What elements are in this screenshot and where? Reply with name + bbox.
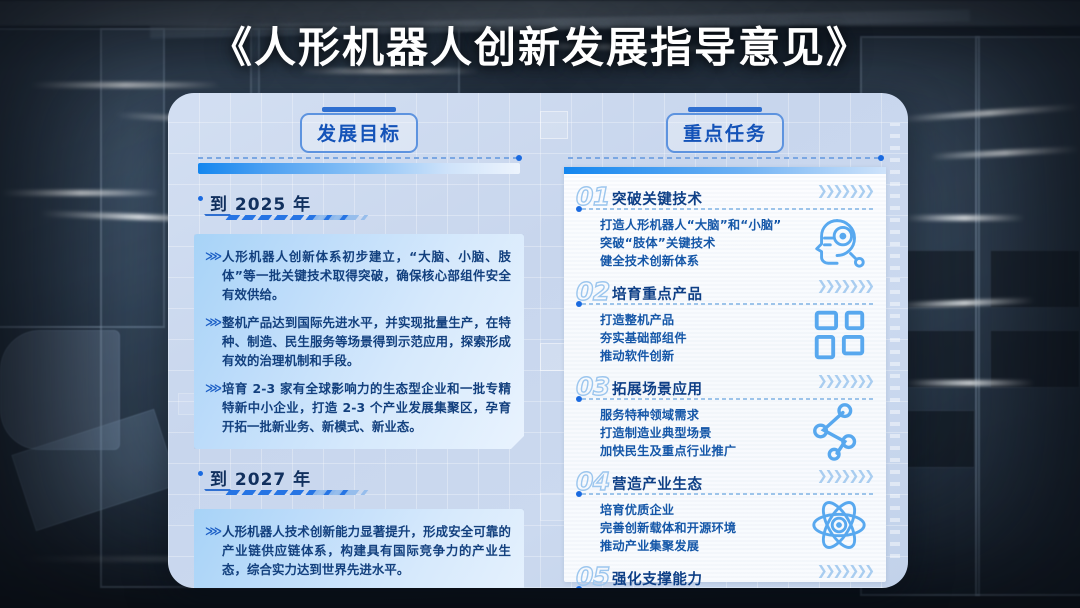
chevron-bullet-icon: ⋙ [205,379,222,398]
task-title: 强化支撑能力 [612,568,703,588]
task-header: 05 强化支撑能力 ❯❯❯❯❯❯❯ [576,564,874,588]
task-item[interactable]: 01 突破关键技术 ❯❯❯❯❯❯❯ 打造人形机器人“大脑”和“小脑” 突破“肢体… [576,175,874,270]
year-label: 到 2025 年 [210,190,524,215]
task-title: 突破关键技术 [612,188,703,209]
task-body: 服务特种领域需求 打造制造业典型场景 加快民生及重点行业推广 [576,401,874,460]
robot-head-icon [808,209,870,271]
task-item[interactable]: 05 强化支撑能力 ❯❯❯❯❯❯❯ 健全产业标准体系 提升检验检测和中试验证能力… [576,555,874,588]
task-number: 05 [576,562,610,588]
development-goals-title: 发展目标 [300,113,418,153]
development-goals-header: 发展目标 [194,105,524,151]
goal-bullet: ⋙ 培育 2-3 家有全球影响力的生态型企业和一批专精特新中小企业，打造 2-3… [205,379,511,436]
task-item[interactable]: 02 培育重点产品 ❯❯❯❯❯❯❯ 打造整机产品 夯实基础部组件 推动软件创新 [576,270,874,365]
dashed-rule [198,157,520,160]
chevron-arrows-icon: ❯❯❯❯❯❯❯ [817,564,872,579]
goals-text-panel-2027: ⋙ 人形机器人技术创新能力显著提升，形成安全可靠的产业链供应链体系，构建具有国际… [194,509,524,588]
task-title: 拓展场景应用 [612,378,703,399]
task-header: 01 突破关键技术 ❯❯❯❯❯❯❯ [576,184,874,211]
tasks-sheet: 01 突破关键技术 ❯❯❯❯❯❯❯ 打造人形机器人“大脑”和“小脑” 突破“肢体… [564,167,886,582]
task-body: 培育优质企业 完善创新载体和开源环境 推动产业集聚发展 [576,496,874,555]
task-item[interactable]: 03 拓展场景应用 ❯❯❯❯❯❯❯ 服务特种领域需求 打造制造业典型场景 加快民… [576,365,874,460]
goals-text-panel-2025: ⋙ 人形机器人创新体系初步建立，“大脑、小脑、肢体”等一批关键技术取得突破，确保… [194,234,524,449]
header-accent-bar [688,107,762,112]
goal-text: 人形机器人技术创新能力显著提升，形成安全可靠的产业链供应链体系，构建具有国际竞争… [222,522,511,579]
year-marker-2025: 到 2025 年 [194,190,524,226]
key-tasks-title: 重点任务 [666,113,784,153]
network-nodes-icon [808,399,870,461]
goal-text: 整机产品达到国际先进水平，并实现批量生产，在特种、制造、民生服务等场景得到示范应… [222,313,511,370]
sheet-top-gradient-bar [564,167,886,174]
atom-icon [808,494,870,556]
goal-text: 培育 2-3 家有全球影响力的生态型企业和一批专精特新中小企业，打造 2-3 个… [222,379,511,436]
chevron-arrows-icon: ❯❯❯❯❯❯❯ [817,374,872,389]
infographic-card: 发展目标 到 2025 年 ⋙ 人形机器人创新体系初步建立，“大脑、小脑、肢体”… [168,93,908,588]
chevron-arrows-icon: ❯❯❯❯❯❯❯ [817,469,872,484]
task-title: 培育重点产品 [612,283,703,304]
header-accent-bar [322,107,396,112]
gradient-bar [198,163,520,174]
chevron-bullet-icon: ⋙ [205,313,222,332]
task-header: 03 拓展场景应用 ❯❯❯❯❯❯❯ [576,374,874,401]
goal-text: 人形机器人创新体系初步建立，“大脑、小脑、肢体”等一批关键技术取得突破，确保核心… [222,247,511,304]
task-body: 打造整机产品 夯实基础部组件 推动软件创新 [576,306,874,365]
task-body: 打造人形机器人“大脑”和“小脑” 突破“肢体”关键技术 健全技术创新体系 [576,211,874,270]
key-tasks-header: 重点任务 [564,105,886,151]
goal-bullet: ⋙ 人形机器人技术创新能力显著提升，形成安全可靠的产业链供应链体系，构建具有国际… [205,522,511,579]
dashed-rule [568,157,882,160]
task-header: 04 营造产业生态 ❯❯❯❯❯❯❯ [576,469,874,496]
page-title: 《人形机器人创新发展指导意见》 [0,14,1080,75]
year-tick-decor [312,490,369,496]
chevron-bullet-icon: ⋙ [205,247,222,266]
task-title: 营造产业生态 [612,473,703,494]
task-header: 02 培育重点产品 ❯❯❯❯❯❯❯ [576,279,874,306]
year-label: 到 2027 年 [210,465,524,490]
chevron-bullet-icon: ⋙ [205,522,222,541]
goal-bullet: ⋙ 人形机器人创新体系初步建立，“大脑、小脑、肢体”等一批关键技术取得突破，确保… [205,247,511,304]
chevron-arrows-icon: ❯❯❯❯❯❯❯ [817,184,872,199]
development-goals-panel: 发展目标 到 2025 年 ⋙ 人形机器人创新体系初步建立，“大脑、小脑、肢体”… [194,105,524,575]
task-item[interactable]: 04 营造产业生态 ❯❯❯❯❯❯❯ 培育优质企业 完善创新载体和开源环境 推动产… [576,460,874,555]
year-marker-2027: 到 2027 年 [194,465,524,501]
grid-squares-icon [808,304,870,366]
chevron-arrows-icon: ❯❯❯❯❯❯❯ [817,279,872,294]
key-tasks-panel: 重点任务 01 突破关键技术 ❯❯❯❯❯❯❯ 打造人形机器人“大脑”和“小脑” … [564,105,886,575]
edge-accent-stripes [890,123,900,558]
year-tick-decor [312,215,369,221]
goal-bullet: ⋙ 整机产品达到国际先进水平，并实现批量生产，在特种、制造、民生服务等场景得到示… [205,313,511,370]
